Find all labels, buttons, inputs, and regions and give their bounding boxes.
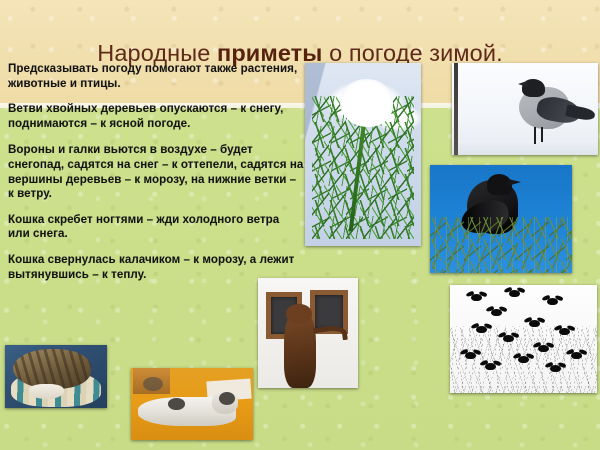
snow-ground <box>452 140 598 155</box>
bird-silhouette <box>509 290 520 297</box>
cat-fur-spot <box>143 377 163 391</box>
crow-photo-content <box>452 63 598 155</box>
photo-raven-on-pine-branch <box>430 165 572 273</box>
spruce-snow-cap <box>340 79 393 127</box>
cat-fur-spot <box>168 398 185 410</box>
text-column: Предсказывать погоду помогают также раст… <box>8 62 304 293</box>
spruce-photo-content <box>305 63 421 246</box>
bird-silhouette <box>518 356 529 363</box>
bird-silhouette <box>547 298 558 305</box>
flock-photo-content <box>450 285 597 393</box>
bird-silhouette <box>503 335 514 342</box>
photo-hooded-crow-on-snow <box>452 63 598 155</box>
raven-beak <box>508 179 521 186</box>
paragraph-conifer-branches: Ветви хвойных деревьев опускаются – к сн… <box>8 102 304 131</box>
raven-photo-content <box>430 165 572 273</box>
cat-curled-photo-content <box>5 345 107 408</box>
bird-silhouette <box>471 294 482 301</box>
photo-cat-curled-asleep <box>5 345 107 408</box>
crow-legs <box>532 127 552 144</box>
presentation-slide: Народные приметы о погоде зимой. Предска… <box>0 0 600 450</box>
crow-beak <box>518 81 527 87</box>
paragraph-intro: Предсказывать погоду помогают также раст… <box>8 62 304 91</box>
bird-silhouette <box>485 363 496 370</box>
curled-tabby-cat <box>13 349 91 389</box>
bird-silhouette <box>465 352 476 359</box>
cat-scratch-photo-content <box>258 278 358 388</box>
photo-cat-scratching-wall-pads <box>258 278 358 388</box>
photo-cat-stretched-out <box>131 368 253 440</box>
pine-foliage <box>430 217 572 273</box>
cat-stretch-photo-content <box>131 368 253 440</box>
photo-snow-covered-spruce-branch <box>305 63 421 246</box>
background-twigs <box>455 67 513 104</box>
paragraph-crows-and-jackdaws: Вороны и галки вьются в воздухе – будет … <box>8 143 304 201</box>
bird-silhouette <box>491 309 502 316</box>
scratching-cat-tail <box>313 324 348 344</box>
paragraph-cat-scratching: Кошка скребет ногтями – жди холодного ве… <box>8 213 304 242</box>
scratching-cat-head <box>286 304 312 324</box>
bird-silhouette <box>559 328 570 335</box>
photo-flock-of-black-birds <box>450 285 597 393</box>
bird-silhouette <box>571 352 582 359</box>
bird-silhouette <box>529 320 540 327</box>
bird-silhouette <box>550 365 561 372</box>
page-title-part2: о погоде зимой. <box>322 40 502 66</box>
